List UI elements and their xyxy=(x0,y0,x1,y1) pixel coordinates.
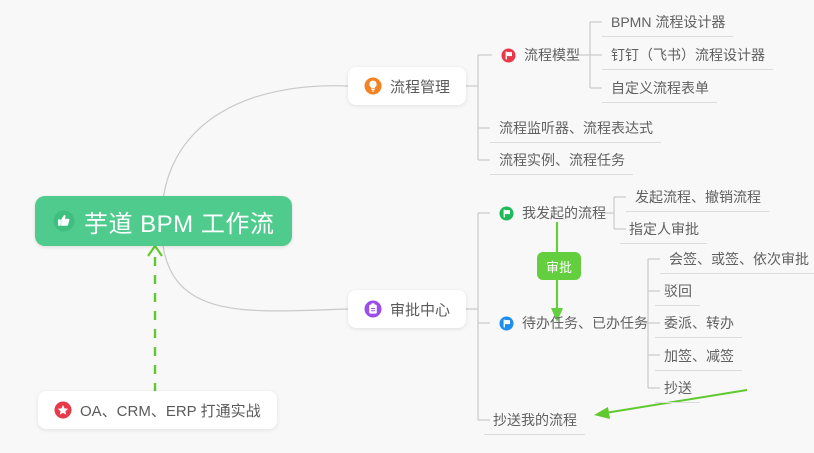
node-process-model[interactable]: 流程模型 xyxy=(492,40,588,70)
node-label-delegate-transfer: 委派、转办 xyxy=(664,313,734,333)
node-label-bpmn-designer: BPMN 流程设计器 xyxy=(611,12,725,32)
node-add-remove-sign[interactable]: 加签、减签 xyxy=(655,341,742,371)
node-label-custom-process-form: 自定义流程表单 xyxy=(611,78,709,98)
node-assignee-approval[interactable]: 指定人审批 xyxy=(620,214,707,244)
node-cc[interactable]: 抄送 xyxy=(655,373,700,403)
node-label-process-model: 流程模型 xyxy=(524,45,580,65)
approval-badge[interactable]: 审批 xyxy=(537,252,581,280)
lightbulb-icon xyxy=(364,77,382,95)
node-countersign[interactable]: 会签、或签、依次审批 xyxy=(660,244,814,274)
flag-icon xyxy=(499,206,514,221)
node-label-assignee-approval: 指定人审批 xyxy=(629,219,699,239)
node-label-cc: 抄送 xyxy=(664,378,692,398)
root-node-label: 芋道 BPM 工作流 xyxy=(84,204,274,239)
node-todo-done-tasks[interactable]: 待办任务、已办任务 xyxy=(490,308,656,338)
node-label-cc-to-me-process: 抄送我的流程 xyxy=(493,410,577,430)
node-process-listener-expression[interactable]: 流程监听器、流程表达式 xyxy=(490,113,661,143)
node-label-my-initiated-process: 我发起的流程 xyxy=(522,203,606,223)
branch-label-approval-center: 审批中心 xyxy=(390,299,450,320)
node-start-cancel-process[interactable]: 发起流程、撤销流程 xyxy=(626,182,769,212)
node-custom-process-form[interactable]: 自定义流程表单 xyxy=(602,73,717,103)
edge-root-to-process-management xyxy=(162,86,348,210)
node-label-process-listener-expression: 流程监听器、流程表达式 xyxy=(499,118,653,138)
cc-link-arrowhead xyxy=(594,407,610,419)
branch-label-process-management: 流程管理 xyxy=(390,76,450,97)
node-cc-to-me-process[interactable]: 抄送我的流程 xyxy=(484,405,585,435)
node-bpmn-designer[interactable]: BPMN 流程设计器 xyxy=(602,7,733,37)
node-label-countersign: 会签、或签、依次审批 xyxy=(669,249,809,269)
node-delegate-transfer[interactable]: 委派、转办 xyxy=(655,308,742,338)
thumbs-up-icon xyxy=(53,210,75,232)
bottom-note-label: OA、CRM、ERP 打通实战 xyxy=(80,400,261,421)
node-label-dingtalk-feishu-designer: 钉钉（飞书）流程设计器 xyxy=(611,45,765,65)
node-label-process-instance-task: 流程实例、流程任务 xyxy=(499,150,625,170)
node-label-todo-done-tasks: 待办任务、已办任务 xyxy=(522,313,648,333)
bottom-note-arrowhead xyxy=(148,246,162,256)
node-label-reject: 驳回 xyxy=(664,281,692,301)
node-process-instance-task[interactable]: 流程实例、流程任务 xyxy=(490,145,633,175)
node-label-start-cancel-process: 发起流程、撤销流程 xyxy=(635,187,761,207)
approval-badge-label: 审批 xyxy=(546,257,572,276)
mindmap-canvas: 芋道 BPM 工作流 流程管理 流程模型 BPMN 流程设计器 钉钉（飞书）流程 xyxy=(0,0,814,453)
flag-icon xyxy=(501,48,516,63)
node-dingtalk-feishu-designer[interactable]: 钉钉（飞书）流程设计器 xyxy=(602,40,773,70)
edge-root-to-approval-center xyxy=(162,236,348,311)
branch-node-approval-center[interactable]: 审批中心 xyxy=(348,290,466,328)
node-my-initiated-process[interactable]: 我发起的流程 xyxy=(490,198,614,228)
star-icon xyxy=(54,401,72,419)
branch-node-process-management[interactable]: 流程管理 xyxy=(348,67,466,105)
clipboard-icon xyxy=(364,300,382,318)
node-reject[interactable]: 驳回 xyxy=(655,276,700,306)
flag-icon xyxy=(499,316,514,331)
root-node[interactable]: 芋道 BPM 工作流 xyxy=(35,196,292,246)
bottom-note-node[interactable]: OA、CRM、ERP 打通实战 xyxy=(38,391,277,429)
node-label-add-remove-sign: 加签、减签 xyxy=(664,346,734,366)
